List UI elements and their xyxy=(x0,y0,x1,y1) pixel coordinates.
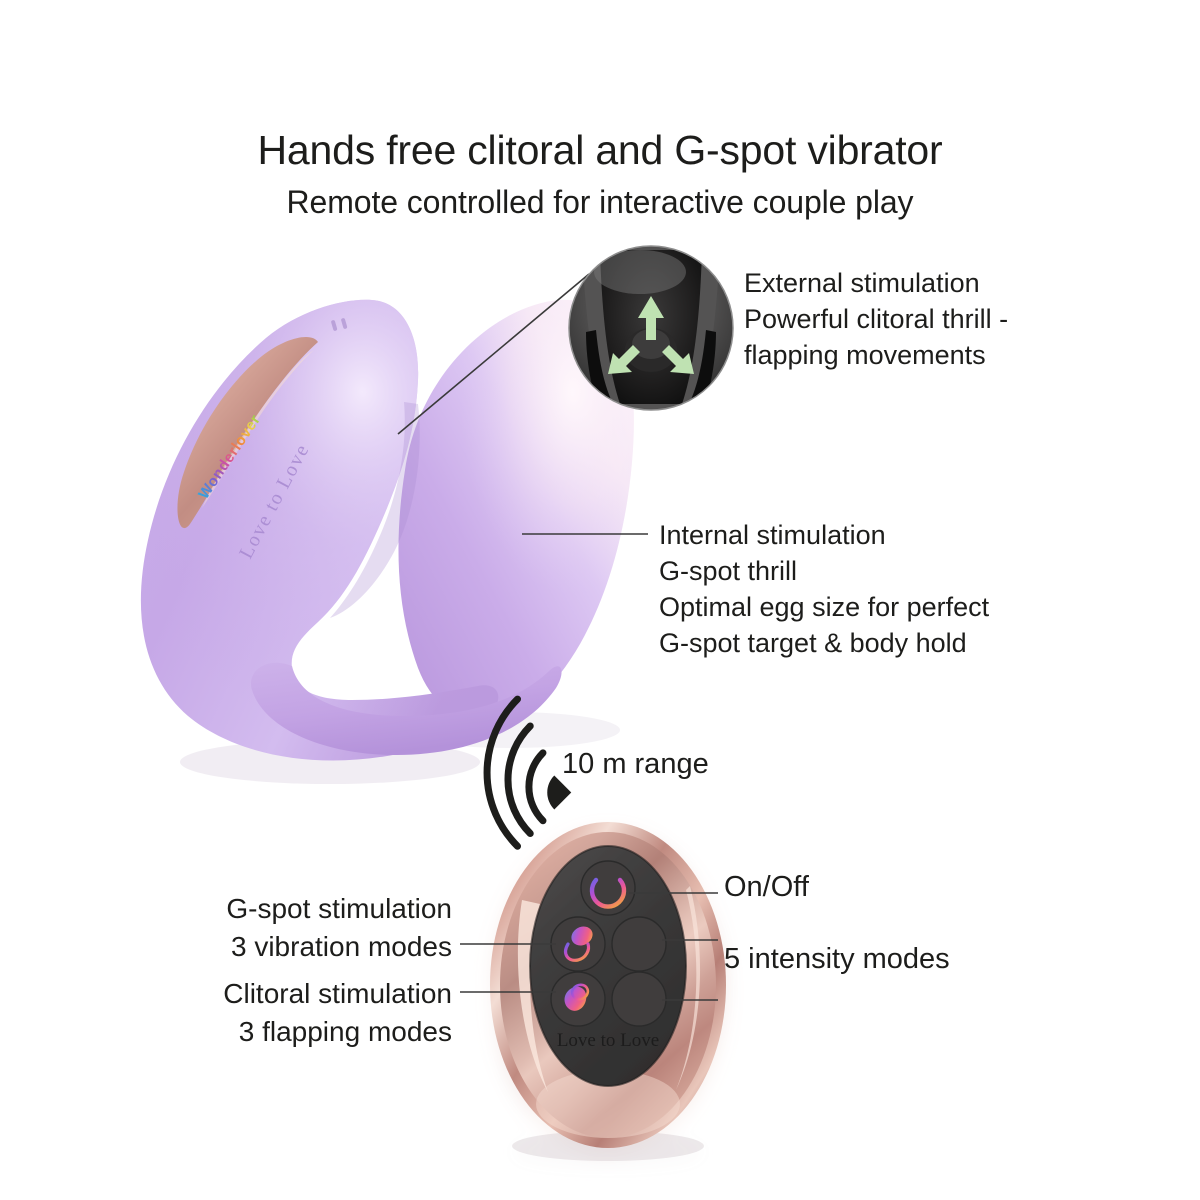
product-main-body: Wonderlover Love to Love xyxy=(141,300,634,784)
onoff-label: On/Off xyxy=(724,868,809,907)
internal-callout-line-2: G-spot thrill xyxy=(659,554,989,590)
clitoral-modes-callout: Clitoral stimulation 3 flapping modes xyxy=(178,975,452,1050)
intensity-modes-label: 5 intensity modes xyxy=(724,940,950,979)
page-subtitle: Remote controlled for interactive couple… xyxy=(0,185,1200,221)
clitoral-mode-button[interactable] xyxy=(551,972,605,1026)
infographic-canvas: Wonderlover Love to Love xyxy=(0,0,1200,1200)
range-label: 10 m range xyxy=(562,745,709,784)
clitoral-callout-line-2: 3 flapping modes xyxy=(178,1013,452,1051)
clitoral-callout-line-1: Clitoral stimulation xyxy=(178,975,452,1013)
external-callout-line-3: flapping movements xyxy=(744,338,1008,374)
internal-stimulation-callout: Internal stimulation G-spot thrill Optim… xyxy=(659,518,989,662)
external-callout-line-2: Powerful clitoral thrill - xyxy=(744,302,1008,338)
intensity-up-button[interactable] xyxy=(612,917,666,971)
gspot-mode-button[interactable] xyxy=(551,917,605,971)
external-callout-line-1: External stimulation xyxy=(744,266,1008,302)
gspot-modes-callout: G-spot stimulation 3 vibration modes xyxy=(190,890,452,965)
gspot-callout-line-1: G-spot stimulation xyxy=(190,890,452,928)
remote-brand-label: Love to Love xyxy=(557,1030,659,1051)
internal-callout-line-4: G-spot target & body hold xyxy=(659,626,989,662)
internal-callout-line-1: Internal stimulation xyxy=(659,518,989,554)
internal-callout-line-3: Optimal egg size for perfect xyxy=(659,590,989,626)
intensity-down-button[interactable] xyxy=(612,972,666,1026)
external-stimulation-callout: External stimulation Powerful clitoral t… xyxy=(744,266,1008,374)
gspot-callout-line-2: 3 vibration modes xyxy=(190,928,452,966)
page-title: Hands free clitoral and G-spot vibrator xyxy=(0,128,1200,174)
power-button[interactable] xyxy=(581,861,635,915)
